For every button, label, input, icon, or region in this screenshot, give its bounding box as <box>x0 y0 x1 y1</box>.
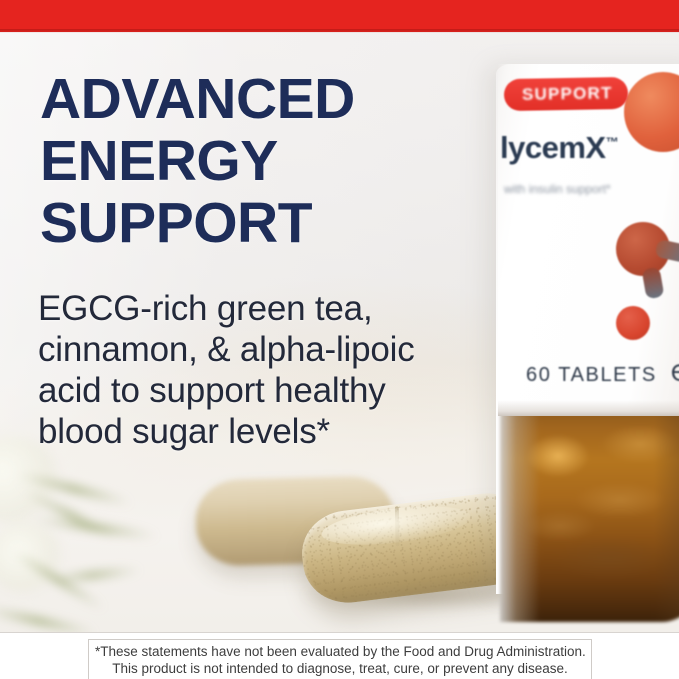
headline-line-3: SUPPORT <box>40 192 460 254</box>
molecule-node-large-orange <box>624 72 679 152</box>
disclaimer-box: *These statements have not been evaluate… <box>88 639 592 679</box>
herb-bloom-icon <box>0 523 62 593</box>
label-bottom-edge <box>498 400 679 416</box>
trademark-icon: ™ <box>606 135 619 150</box>
glass-right-shadow <box>654 408 679 622</box>
brand-name-text: lycemX <box>500 130 606 165</box>
bottle-tablet-count: 60 TABLETSϴ <box>526 360 679 388</box>
subheadline-line-3: acid to support healthy <box>38 370 458 411</box>
tablet-score-line <box>395 506 400 546</box>
bottle-label-description: with insulin support* <box>504 182 624 197</box>
bottle-label: SUPPORT lycemX™ with insulin support* 60… <box>498 64 679 416</box>
subheadline-line-1: EGCG-rich green tea, <box>38 288 458 329</box>
molecule-stem <box>642 267 665 300</box>
headline-line-2: ENERGY <box>40 130 460 192</box>
molecule-graphic <box>594 66 679 366</box>
herb-sprig <box>46 567 142 583</box>
support-badge-label: SUPPORT <box>522 83 632 105</box>
top-red-bar-shadow <box>0 29 679 33</box>
theta-symbol-icon: ϴ <box>671 360 679 388</box>
headline: ADVANCED ENERGY SUPPORT <box>40 68 460 254</box>
molecule-node-small-red-dot <box>616 306 650 340</box>
amber-glass-section <box>500 408 679 622</box>
top-red-bar <box>0 0 679 32</box>
tablet-count-text: 60 TABLETS <box>526 364 657 386</box>
subheadline-line-4: blood sugar levels* <box>38 411 458 452</box>
disclaimer-line-2: This product is not intended to diagnose… <box>95 660 585 677</box>
footer-divider <box>0 632 679 633</box>
glass-left-highlight <box>500 408 540 622</box>
headline-line-1: ADVANCED <box>40 68 460 130</box>
subheadline-line-2: cinnamon, & alpha-lipoic <box>38 329 458 370</box>
footer-disclaimer: *These statements have not been evaluate… <box>0 632 679 679</box>
supplement-bottle: SUPPORT lycemX™ with insulin support* 60… <box>470 64 679 632</box>
subheadline: EGCG-rich green tea, cinnamon, & alpha-l… <box>38 288 458 452</box>
bottle-brand-name: lycemX™ <box>500 130 618 166</box>
product-ad-banner: SUPPORT lycemX™ with insulin support* 60… <box>0 0 679 679</box>
disclaimer-line-1: *These statements have not been evaluate… <box>95 643 585 660</box>
herb-sprig <box>0 605 98 632</box>
